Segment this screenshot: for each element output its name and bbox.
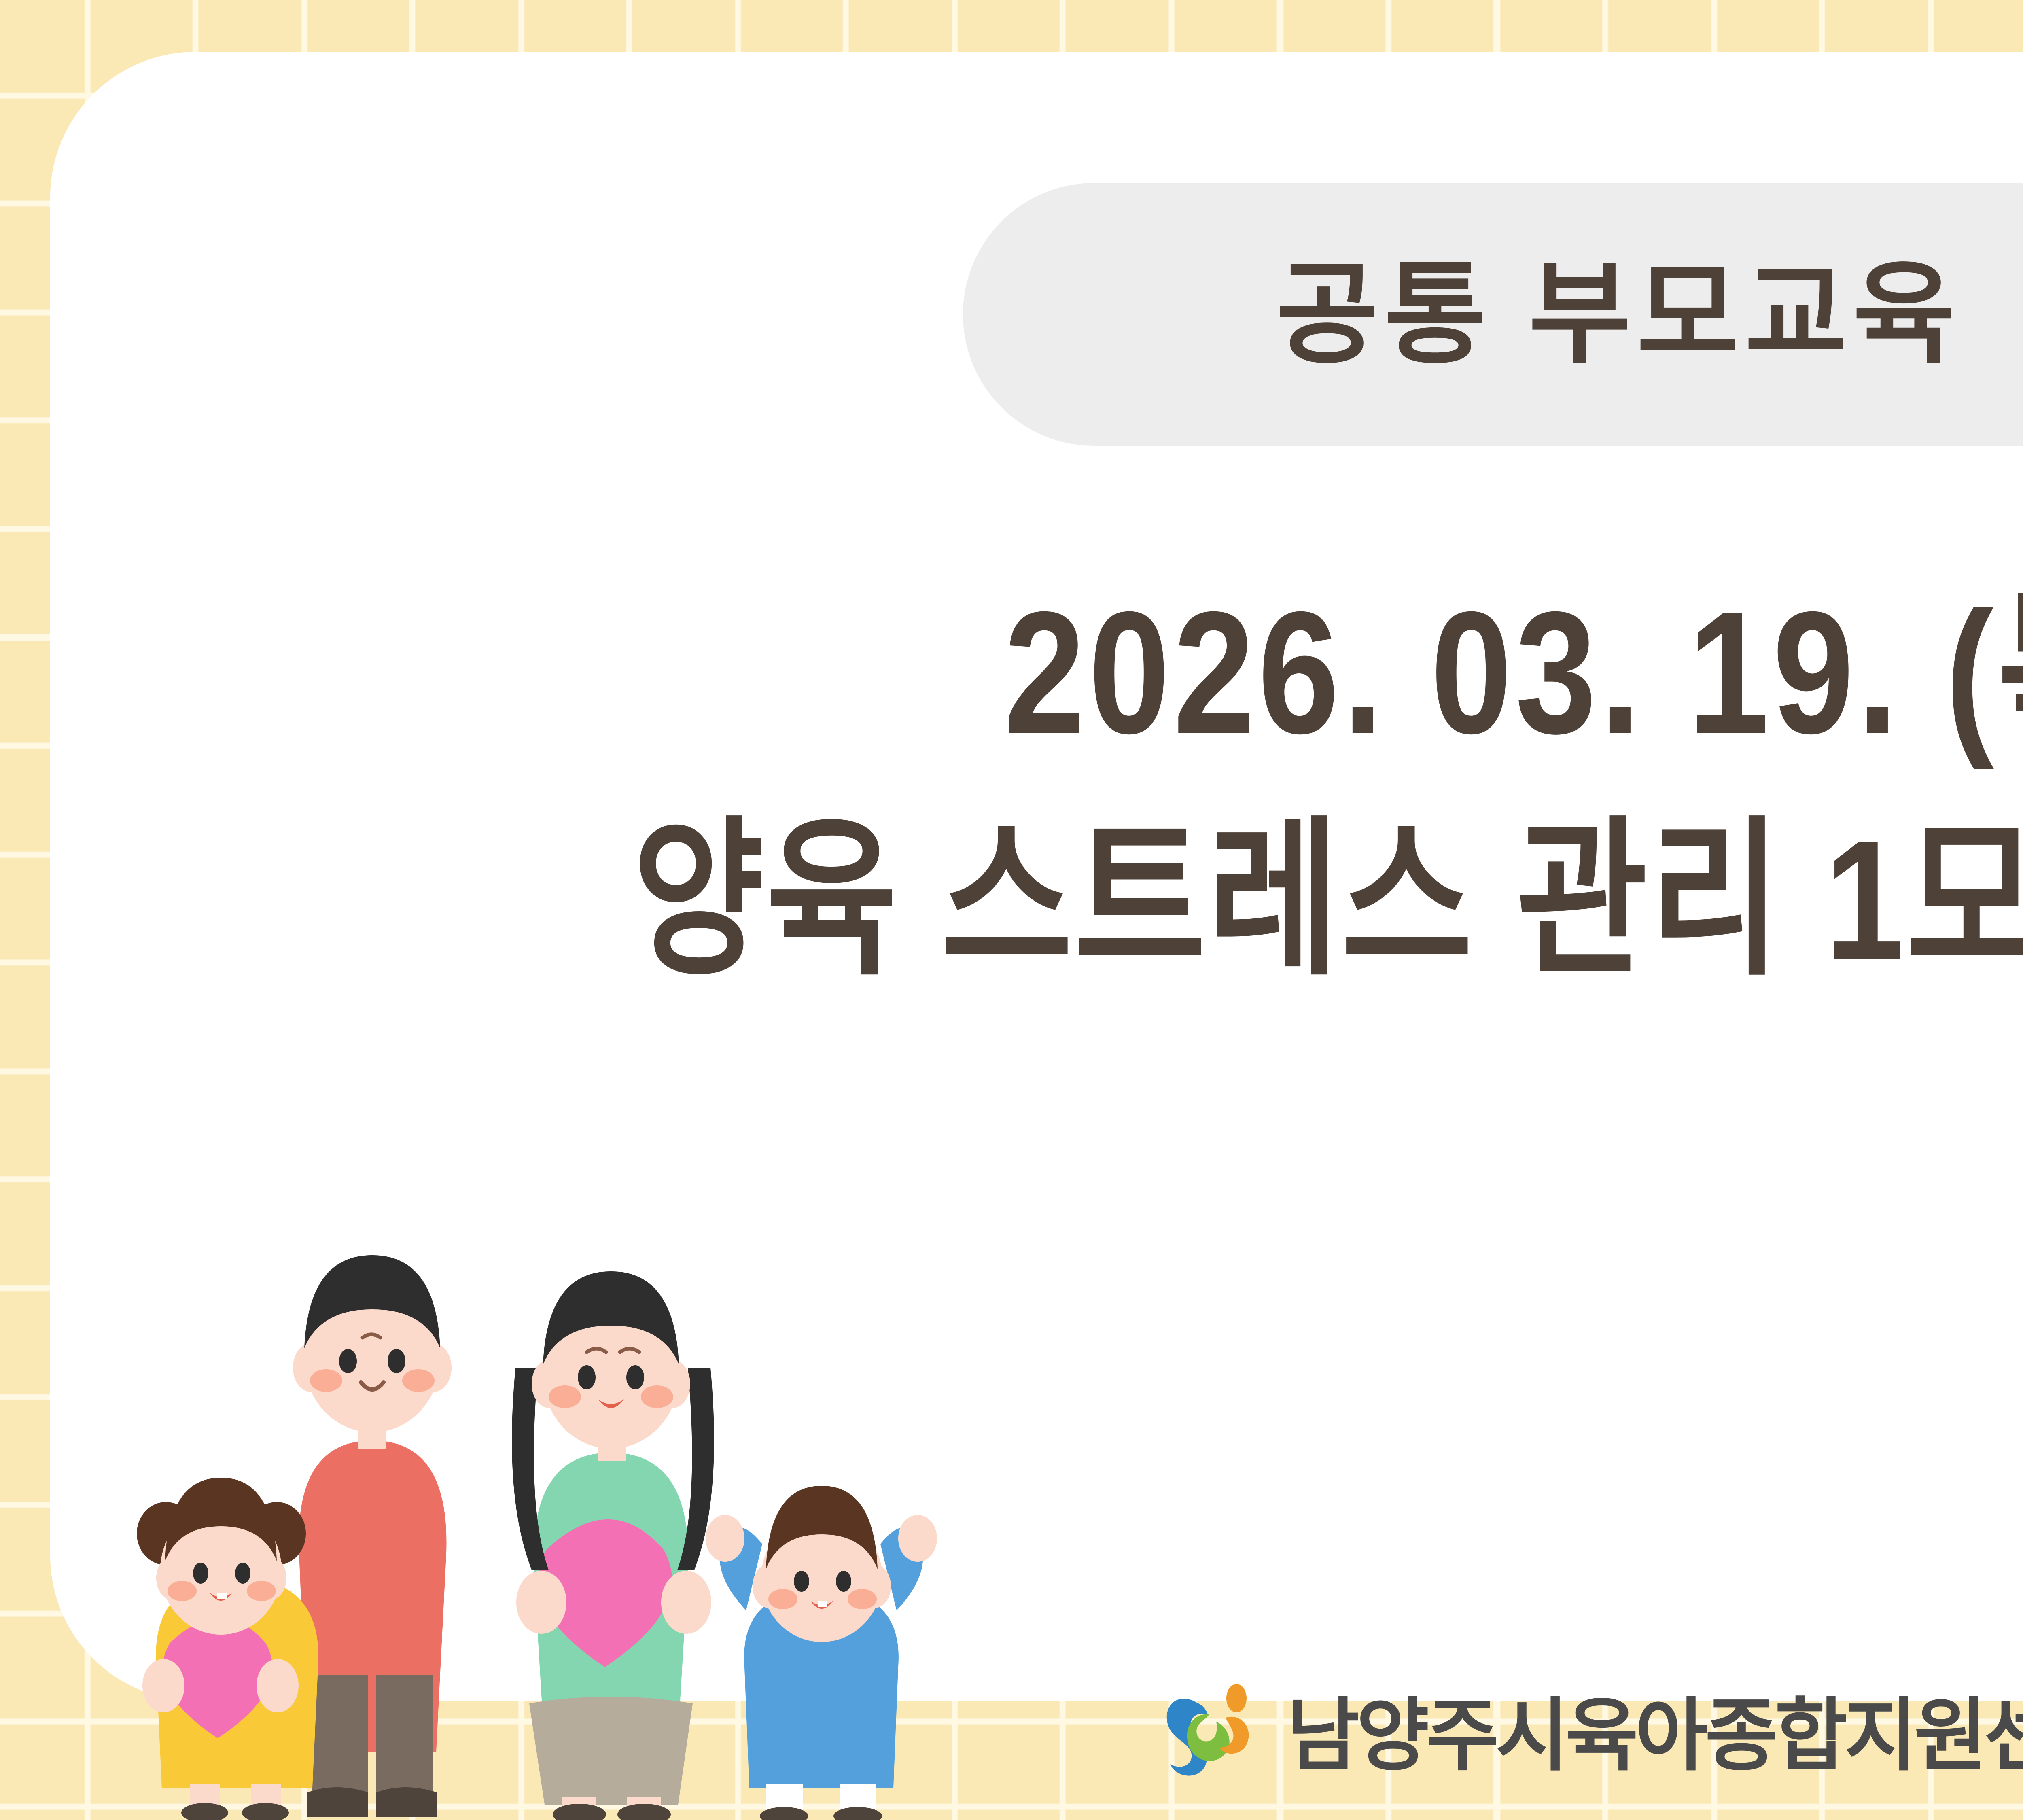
headline-date: 2026. 03. 19. (목). (259, 558, 2023, 788)
poster-headline: 2026. 03. 19. (목). 양육 스트레스 관리 1모듈_2회기 (0, 558, 2023, 1012)
illustration-father (293, 1255, 452, 1817)
family-illustration (121, 1198, 983, 1820)
category-badge: 공통 부모교육 (963, 183, 2023, 446)
illustration-girl (137, 1478, 318, 1820)
illustration-boy (706, 1486, 937, 1820)
headline-subject: 양육 스트레스 관리 1모듈_2회기 (259, 788, 2023, 1012)
center-logo-mark-icon (1157, 1677, 1279, 1795)
category-badge-label: 공통 부모교육 (1276, 259, 1961, 370)
center-logo-name: 남양주시육아종합지원센터 (1287, 1696, 2023, 1775)
center-logo: 남양주시육아종합지원센터 (1157, 1675, 2023, 1797)
illustration-mother (512, 1271, 714, 1820)
